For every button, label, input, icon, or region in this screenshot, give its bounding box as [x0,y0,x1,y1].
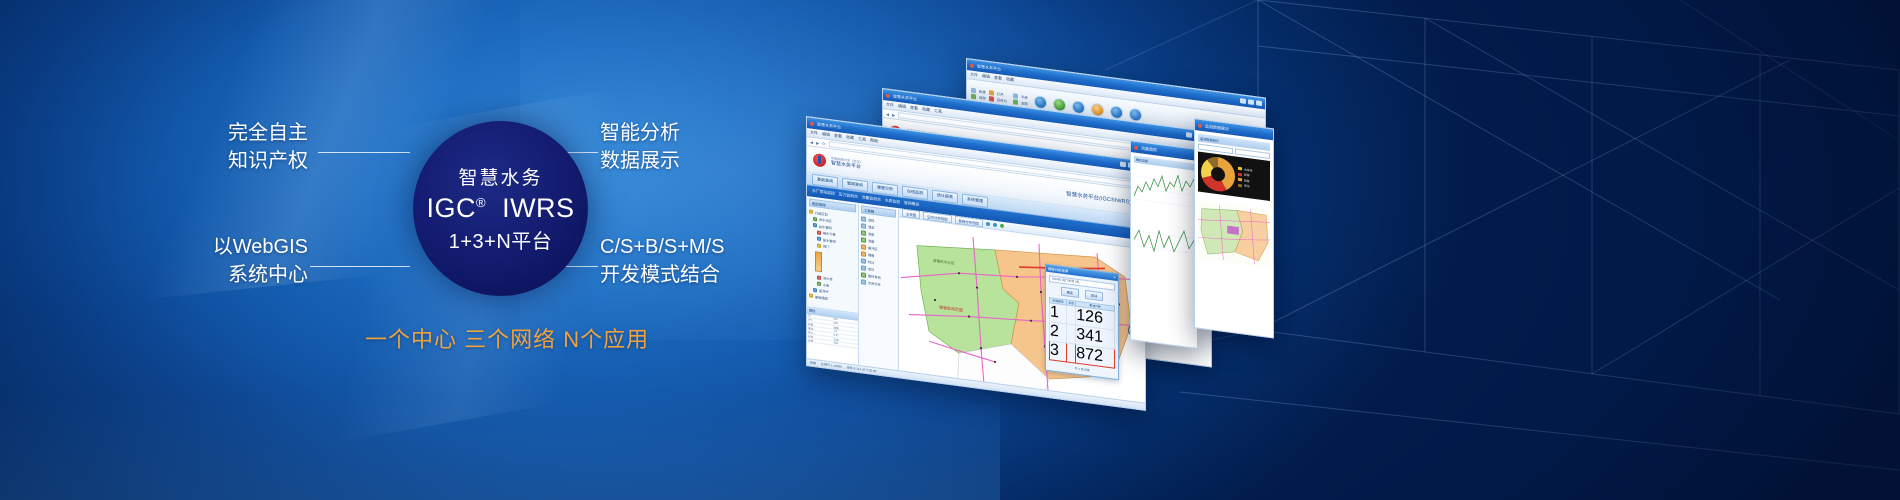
hub-title-cn: 智慧水务 [458,163,542,190]
menu-item[interactable]: 收藏 [922,106,930,113]
legend-label: 合格率 [1244,167,1252,172]
tool-label: 定位 [868,266,874,272]
feature-label-top-left: 完全自主 知识产权 [188,120,308,175]
legend-label: 超限 [1244,173,1250,178]
tool-label: 测面 [868,238,874,244]
feature-line-2: 数据展示 [600,148,680,176]
layer-swatch-icon [813,287,817,292]
menu-item[interactable]: 查看 [994,75,1002,82]
tool-label: 爆管 [868,252,874,258]
connector-bottom-left [310,266,410,267]
legend-label: 离线 [1244,184,1250,189]
minimize-icon [1186,132,1192,138]
refresh-icon[interactable]: ⟳ [822,141,825,146]
mini-map [1198,195,1270,275]
app-title: 智慧水务平台(IGC®IWRS) [1066,189,1139,207]
menu-item[interactable]: 编辑 [822,131,830,138]
tool-label: 漫游 [868,224,874,230]
pan-icon[interactable] [1013,93,1018,99]
window-dashboard-pane[interactable]: 监测数据展示 监测数据展示 合格率 超限 预警 离线 [1194,118,1274,339]
spatial-analysis-icon [861,279,866,285]
tree-node-label: 基础底图 [815,294,828,301]
layer-tree-panel[interactable]: 图层管理 行政区划 供水分区 给水管网 输水干管 配水管线 阀门 消火栓 水表 … [807,196,859,365]
feature-line-1: C/S+B/S+M/S [600,234,725,262]
confirm-button[interactable]: 确定 [1061,287,1079,298]
feature-line-2: 开发模式结合 [600,262,725,290]
tree-node-label: 监测点 [819,288,829,294]
map-panel[interactable]: 主视图 空间分析视图 管网分析视图 [899,208,1145,402]
ribbon-item[interactable]: 平移 [1021,94,1028,100]
feature-label-bottom-left: 以WebGIS 系统中心 [170,234,308,289]
app-icon [1198,123,1202,128]
legend-label: 预警 [1244,178,1250,183]
tree-node-label: 水表 [823,282,829,288]
ribbon-item[interactable]: 打开 [997,91,1004,97]
tool-label: 缓冲区 [868,245,878,251]
layer-swatch-icon [809,293,813,298]
layer-swatch-icon [813,223,817,228]
cell-order: 1 [1050,303,1067,324]
back-icon[interactable]: ◀ [886,111,889,116]
forward-icon[interactable]: ▶ [892,112,895,117]
tree-node-label: 配水管线 [823,237,836,244]
connector-top-left [318,152,410,153]
analysis-dialog[interactable]: 爆管分析结果 ✕ DN600 阀门关闭 3处 确定 取消 关阀顺序 [1045,264,1119,381]
tool-label: 测距 [868,231,874,237]
series-line-2 [1134,225,1194,257]
banner-stage: 完全自主 知识产权 以WebGIS 系统中心 智能分析 数据展示 C/S+B/S… [0,0,1900,500]
hub-platform: 1+3+N平台 [449,225,553,254]
chart-legend: 合格率 超限 预警 离线 [1238,167,1252,189]
ribbon-item[interactable]: 全图 [1021,100,1028,106]
pan-icon [861,223,866,229]
tool-label: 选择 [868,217,874,223]
cell-order: 2 [1050,322,1067,343]
attribute-grid[interactable]: 属性 ID001 DN600 材质球墨 埋深1.8 压力0.32 状态正常 长度… [807,306,859,365]
cell-status [1067,343,1076,363]
tree-node-label: 输水干管 [823,230,836,237]
minimize-icon [1120,161,1126,167]
feature-line-1: 以WebGIS [170,234,308,262]
tool-label: 属性查询 [868,273,881,280]
back-icon[interactable]: ◀ [810,139,813,144]
window-title: 智慧水务平台 [817,121,841,130]
menu-item[interactable]: 工具 [934,108,942,115]
app-icon [970,63,974,68]
forward-icon[interactable]: ▶ [816,140,819,145]
window-title: 流量趋势 [1141,145,1157,153]
menu-item[interactable]: 文件 [810,130,818,137]
tool-label: 标注 [868,259,874,265]
close-icon [1256,100,1262,106]
menu-item[interactable]: 查看 [910,105,918,112]
cell-count: 872 [1076,344,1115,368]
layer-swatch-icon [817,236,821,241]
feature-line-2: 知识产权 [188,148,308,176]
tree-node-label: 阀门 [823,243,829,249]
menu-item[interactable]: 编辑 [898,103,906,110]
ribbon-item[interactable]: 新建 [979,89,986,95]
menu-item[interactable]: 文件 [886,102,894,109]
app-icon [886,93,890,98]
dashboard-panel: 监测数据展示 合格率 超限 预警 离线 [1195,130,1273,338]
layer-swatch-icon [813,216,817,221]
burst-icon [861,251,866,257]
tool-label: 空间分析 [868,280,881,287]
feature-line-2: 系统中心 [170,262,308,290]
hub-brand: IGC [426,193,476,223]
window-title: 监测数据展示 [1205,123,1229,132]
menu-item[interactable]: 收藏 [846,134,854,141]
sparkline-chart [1134,165,1194,219]
status-coords: 坐标 X:114.32 Y:30.58 [847,365,877,373]
subnav-item[interactable]: 压力监测点 [839,192,858,200]
menu-item[interactable]: 帮助 [870,137,878,144]
layer-swatch-icon [817,275,821,280]
cancel-button[interactable]: 取消 [1085,290,1103,301]
subnav-item[interactable]: 管网模拟 [904,201,919,208]
subnav-item[interactable]: 水厂泵站监控 [812,189,835,197]
measure-area-icon [861,237,866,243]
tree-node-label: 供水分区 [819,217,832,224]
dialog-table: 关阀顺序 状态 影响户数 1 126 2 [1049,297,1115,369]
app-icon [810,121,814,126]
legend-entry: 离线 [1238,183,1252,189]
menu-item[interactable]: 工具 [858,136,866,143]
app-icon [1134,145,1138,150]
refresh-map-icon[interactable] [1000,224,1004,229]
window-title: 智慧水务平台 [977,63,1001,72]
series-line [1134,170,1194,204]
window-front[interactable]: 智慧水务平台 文件 编辑 查看 收藏 工具 帮助 ◀ ▶ ⟳ 中国地质大学（武汉 [806,116,1146,411]
open-icon[interactable] [989,90,994,96]
zoom-in-icon[interactable] [986,222,990,227]
dialog-body: DN600 阀门关闭 3处 确定 取消 关阀顺序 状态 影响户数 [1046,272,1118,380]
cell-status [1067,324,1076,344]
feature-line-1: 智能分析 [600,120,680,148]
registered-icon: ® [476,195,486,210]
cell-status [1067,305,1076,325]
minimize-icon [1240,98,1246,104]
window-chart-pane[interactable]: 流量趋势 瞬时流量 [1130,140,1198,349]
hub-brand-line: IGC® IWRS [426,193,574,223]
layer-swatch-icon [809,209,813,214]
layer-swatch-icon [817,281,821,286]
identify-icon [861,272,866,278]
donut-chart-box: 合格率 超限 预警 离线 [1198,152,1270,202]
hub-product: IWRS [502,193,575,223]
label-icon [861,258,866,264]
line-chart-panel: 瞬时流量 [1131,152,1197,349]
menu-item[interactable]: 收藏 [1006,76,1014,83]
sparkline-chart-2 [1134,216,1194,270]
feature-label-bottom-right: C/S+B/S+M/S 开发模式结合 [600,234,725,289]
saveas-icon[interactable] [989,96,994,102]
feature-line-1: 完全自主 [188,120,308,148]
buffer-icon [861,244,866,250]
subnav-item[interactable]: 流量监测点 [862,195,881,203]
legend-gradient [815,251,822,272]
logo-icon [813,153,826,168]
fullextent-icon[interactable] [1013,99,1018,105]
menu-item[interactable]: 编辑 [982,73,990,80]
status-text: 就绪 [810,361,816,366]
menu-item[interactable]: 文件 [970,72,978,79]
toolbox-panel[interactable]: 工具箱 选择 漫游 测距 测面 缓冲区 爆管 标注 定位 属性查询 空间分析 [859,203,899,370]
menu-item[interactable]: 查看 [834,133,842,140]
select-icon [861,216,866,222]
tree-node-label: 消火栓 [823,275,833,281]
zoom-out-icon[interactable] [993,223,997,228]
cell-order: 3 [1050,341,1067,362]
status-scale: 比例尺 1:10000 [821,362,842,369]
tree-node-label: 给水管网 [819,223,832,230]
screens-cluster: 智慧水务平台 文件 编辑 查看 收藏 新建 打开 保存 另存为 放大 缩小 [770,30,1370,370]
measure-distance-icon [861,230,866,236]
brand-name: 中国地质大学（武汉） 智慧水务平台 [831,157,863,171]
layer-swatch-icon [817,243,821,248]
locate-icon [861,265,866,271]
ribbon-item[interactable]: 保存 [979,95,986,101]
window-controls[interactable] [1240,98,1262,106]
tagline: 一个中心 三个网络 N个应用 [365,322,649,354]
tree-node-label: 行政区划 [815,210,828,217]
save-icon[interactable] [971,94,976,100]
layer-swatch-icon [817,230,821,235]
selection-box [1227,226,1239,235]
subnav-item[interactable]: 水质监测 [885,198,900,205]
new-icon[interactable] [971,88,976,94]
feature-label-top-right: 智能分析 数据展示 [600,120,680,175]
close-icon[interactable]: ✕ [1113,275,1116,279]
maximize-icon [1248,99,1254,105]
donut-chart [1201,155,1235,193]
window-title: 智慧水务平台 [893,93,917,102]
center-hub: 智慧水务 IGC® IWRS 1+3+N平台 [413,121,588,296]
